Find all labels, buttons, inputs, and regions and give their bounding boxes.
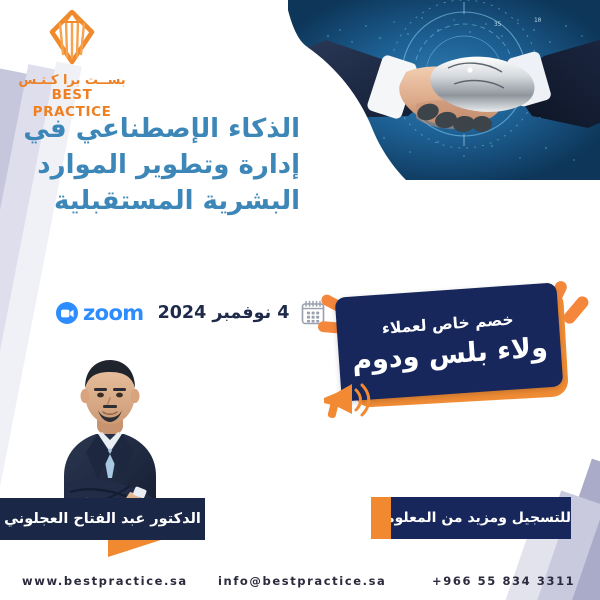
promotional-poster: 35 10 30% 20% 10% 01: [0, 0, 600, 600]
badge-headline: خصم خاص لعملاء: [381, 310, 514, 337]
event-date: 4 نوفمبر 2024: [158, 303, 290, 323]
registration-cta-button[interactable]: للتسجيل ومزيد من المعلومات: [371, 497, 571, 539]
cta-orange-accent: [371, 497, 391, 539]
title-line-3: البشرية المستقبلية: [54, 184, 300, 218]
speaker-name-banner: الدكتور عبد الفتاح العجلوني: [0, 498, 205, 540]
badge-program-name: ولاء بلس ودوم: [351, 332, 549, 377]
robot-handshake-image: 35 10 30% 20% 10% 01: [288, 0, 600, 180]
svg-text:35: 35: [494, 21, 502, 28]
zoom-platform-label: zoom: [83, 303, 144, 324]
zoom-platform-logo: zoom: [56, 302, 144, 324]
title-line-2: إدارة وتطوير الموارد: [37, 148, 300, 182]
handshake-illustration: 35 10 30% 20% 10% 01: [288, 0, 600, 180]
orange-arrow-accent: [108, 539, 164, 557]
event-details-row: zoom 4 نوفمبر 2024: [56, 295, 327, 331]
registration-cta-label: للتسجيل ومزيد من المعلومات: [371, 510, 571, 526]
footer-email[interactable]: info@bestpractice.sa: [218, 574, 386, 588]
brand-name-arabic: بســت برا كـتـس: [12, 74, 132, 87]
badge-accent-dash-right-lower: [561, 294, 591, 326]
speaker-name: الدكتور عبد الفتاح العجلوني: [4, 511, 201, 527]
megaphone-icon: [322, 378, 374, 422]
footer-website[interactable]: www.bestpractice.sa: [22, 574, 188, 588]
svg-text:10: 10: [534, 17, 542, 24]
zoom-camera-icon: [56, 302, 78, 324]
brand-logo: بســت برا كـتـس BEST PRACTICE: [12, 10, 132, 121]
footer-contact-bar: www.bestpractice.sa info@bestpractice.sa…: [0, 562, 600, 600]
footer-phone[interactable]: +966 55 834 3311: [432, 574, 575, 588]
svg-text:01: 01: [318, 87, 326, 94]
diamond-pencil-logo-icon: [37, 10, 107, 72]
discount-badge: خصم خاص لعملاء ولاء بلس ودوم: [318, 278, 598, 428]
brand-name-english: BEST PRACTICE: [12, 87, 132, 121]
